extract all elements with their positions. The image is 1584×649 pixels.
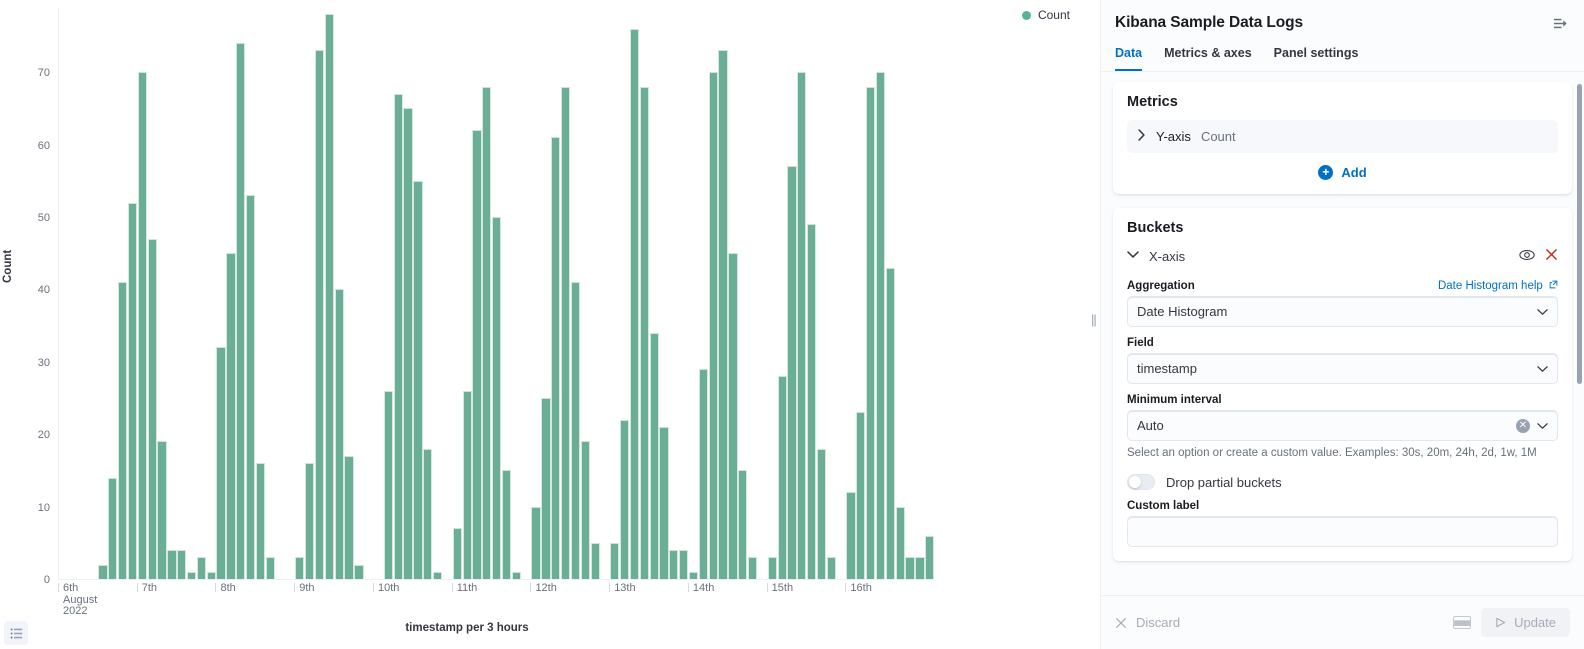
bar[interactable] [256, 463, 265, 579]
bar[interactable] [118, 282, 127, 579]
editor-tabs[interactable]: Data Metrics & axes Panel settings [1101, 36, 1584, 72]
chevron-right-icon [1137, 129, 1146, 144]
tab-panel-settings[interactable]: Panel settings [1274, 46, 1359, 71]
bar[interactable] [787, 166, 796, 579]
metric-value-label: Count [1201, 129, 1236, 144]
discard-label: Discard [1136, 615, 1180, 630]
x-axis-tick-label: 15th [767, 583, 793, 592]
add-metric-button[interactable]: + Add [1127, 165, 1558, 180]
interval-label-row: Minimum interval [1127, 394, 1558, 406]
inspect-list-icon[interactable] [4, 621, 28, 645]
x-axis-tick-label: 6th August 2022 [58, 583, 97, 592]
update-button[interactable]: Update [1481, 608, 1570, 637]
bar[interactable] [157, 441, 166, 579]
plus-circle-icon: + [1318, 165, 1333, 180]
bar[interactable] [98, 565, 107, 579]
y-axis-tick-label: 0 [16, 574, 50, 586]
bar[interactable] [591, 543, 600, 579]
bar[interactable] [856, 412, 865, 579]
bar[interactable] [177, 550, 186, 579]
bar[interactable] [295, 557, 304, 579]
bar[interactable] [335, 289, 344, 579]
keyboard-icon[interactable]: ▦▦▦ [1453, 616, 1471, 629]
metrics-card: Metrics Y-axis Count + Add [1113, 82, 1572, 194]
bar[interactable] [876, 72, 885, 579]
minimum-interval-hint: Select an option or create a custom valu… [1127, 446, 1558, 461]
x-axis-tick-label: 13th [609, 583, 635, 592]
bar[interactable] [226, 253, 235, 579]
x-axis-tick-label: 14th [688, 583, 714, 592]
bar[interactable] [709, 72, 718, 579]
add-metric-label: Add [1341, 165, 1366, 180]
bar[interactable] [472, 130, 481, 579]
bar[interactable] [886, 268, 895, 579]
bar[interactable] [354, 565, 363, 579]
bar[interactable] [925, 536, 934, 579]
buckets-heading: Buckets [1127, 220, 1558, 236]
bar[interactable] [108, 478, 117, 579]
field-label-row: Field [1127, 337, 1558, 349]
bar[interactable] [453, 528, 462, 579]
y-axis-tick-label: 50 [16, 212, 50, 224]
y-axis-tick-label: 20 [16, 429, 50, 441]
bar[interactable] [620, 420, 629, 579]
bar[interactable] [433, 572, 442, 579]
custom-label-label-row: Custom label [1127, 500, 1558, 512]
x-axis-tick-label: 10th [373, 583, 399, 592]
chart-plot-area[interactable] [58, 8, 934, 580]
bucket-row-x-axis[interactable]: X-axis [1127, 246, 1558, 270]
bar[interactable] [512, 572, 521, 579]
bar[interactable] [669, 550, 678, 579]
y-axis-tick-label: 70 [16, 67, 50, 79]
bar[interactable] [167, 550, 176, 579]
bar[interactable] [128, 203, 137, 580]
x-axis-tick-label: 9th [294, 583, 314, 592]
aggregation-label-row: Aggregation Date Histogram help [1127, 280, 1558, 292]
bar[interactable] [492, 217, 501, 579]
discard-button[interactable]: Discard [1115, 615, 1180, 630]
drop-partial-buckets-label: Drop partial buckets [1166, 475, 1282, 490]
chevron-down-icon[interactable] [1127, 250, 1139, 262]
bar[interactable] [689, 572, 698, 579]
x-axis-tick-label: 12th [530, 583, 556, 592]
aggregation-value: Date Histogram [1137, 304, 1227, 319]
chevron-down-icon [1537, 411, 1548, 441]
legend-label-count: Count [1038, 8, 1070, 22]
bar[interactable] [768, 557, 777, 579]
custom-label-input[interactable] [1127, 516, 1558, 547]
bar[interactable] [571, 282, 580, 579]
bar[interactable] [325, 14, 334, 579]
chevron-down-icon [1537, 297, 1548, 327]
bar[interactable] [551, 137, 560, 579]
bar[interactable] [640, 87, 649, 579]
y-axis-tick-label: 10 [16, 502, 50, 514]
bar[interactable] [266, 557, 275, 579]
x-axis-tick-label: 7th [137, 583, 157, 592]
minimum-interval-label: Minimum interval [1127, 394, 1222, 406]
panel-scrollbar[interactable] [1577, 84, 1582, 384]
bar[interactable] [207, 572, 216, 579]
legend-color-dot [1022, 11, 1031, 20]
minimum-interval-value: Auto [1137, 418, 1164, 433]
bar[interactable] [728, 253, 737, 579]
bar[interactable] [305, 463, 314, 579]
bar[interactable] [423, 449, 432, 579]
bar[interactable] [482, 87, 491, 579]
bar[interactable] [344, 456, 353, 579]
bar[interactable] [197, 557, 206, 579]
y-axis-title: Count [2, 250, 14, 283]
bar[interactable] [384, 391, 393, 579]
date-histogram-help-text: Date Histogram help [1438, 280, 1543, 292]
bar[interactable] [394, 94, 403, 579]
bar-series-count[interactable] [59, 7, 935, 579]
bar[interactable] [315, 50, 324, 579]
y-axis-tick-label: 40 [16, 284, 50, 296]
field-select[interactable]: timestamp [1127, 353, 1558, 384]
bar[interactable] [778, 376, 787, 579]
bar[interactable] [905, 557, 914, 579]
eye-icon[interactable] [1519, 249, 1535, 264]
bar[interactable] [610, 543, 619, 579]
bar[interactable] [846, 492, 855, 579]
bar[interactable] [502, 470, 511, 579]
x-axis-tick-label: 11th [452, 583, 478, 592]
metric-type-label: Y-axis [1156, 129, 1191, 144]
chart-legend[interactable]: Count [1022, 8, 1070, 22]
bar[interactable] [148, 239, 157, 579]
tab-metrics-and-axes[interactable]: Metrics & axes [1164, 46, 1252, 71]
editor-scroll-region[interactable]: Metrics Y-axis Count + Add Buck [1101, 72, 1584, 595]
y-axis-tick-label: 30 [16, 357, 50, 369]
panel-header: Kibana Sample Data Logs [1101, 0, 1584, 36]
x-axis-title: timestamp per 3 hours [0, 622, 934, 634]
x-axis-tick-label: 16th [845, 583, 871, 592]
bar[interactable] [807, 224, 816, 579]
panel-resize-handle[interactable]: || [1091, 312, 1096, 327]
bar[interactable] [827, 557, 836, 579]
update-label: Update [1514, 615, 1556, 630]
y-axis-tick-label: 60 [16, 140, 50, 152]
bar[interactable] [561, 87, 570, 579]
toggle-knob [1129, 476, 1141, 488]
bar[interactable] [659, 427, 668, 579]
bar[interactable] [866, 87, 875, 579]
aggregation-label: Aggregation [1127, 280, 1195, 292]
bar[interactable] [581, 441, 590, 579]
visualization-chart-area: Count Count 010203040506070 6th August 2… [0, 0, 1100, 649]
remove-bucket-icon[interactable] [1545, 248, 1558, 264]
minimum-interval-combobox[interactable]: Auto ✕ [1127, 410, 1558, 441]
bar[interactable] [915, 557, 924, 579]
collapse-right-icon[interactable] [1553, 14, 1568, 36]
footer-actions: ▦▦▦ Update [1453, 608, 1570, 637]
tab-data[interactable]: Data [1115, 46, 1142, 71]
bar[interactable] [531, 507, 540, 579]
bar[interactable] [403, 108, 412, 579]
chevron-down-icon [1537, 354, 1548, 384]
bar[interactable] [216, 347, 225, 579]
bar[interactable] [541, 398, 550, 579]
custom-label-label: Custom label [1127, 500, 1199, 512]
bar[interactable] [679, 550, 688, 579]
date-histogram-help-link[interactable]: Date Histogram help [1438, 280, 1558, 292]
visualization-editor-panel: Kibana Sample Data Logs Data Metrics & a… [1100, 0, 1584, 649]
bar[interactable] [699, 369, 708, 579]
bar[interactable] [463, 391, 472, 579]
bar[interactable] [718, 50, 727, 579]
metrics-heading: Metrics [1127, 94, 1558, 110]
page-title: Kibana Sample Data Logs [1115, 14, 1303, 32]
bar[interactable] [748, 557, 757, 579]
x-axis-tick-label: 8th [215, 583, 235, 592]
bar[interactable] [187, 572, 196, 579]
bar[interactable] [236, 43, 245, 579]
bar[interactable] [896, 507, 905, 579]
bar[interactable] [138, 72, 147, 579]
aggregation-select[interactable]: Date Histogram [1127, 296, 1558, 327]
buckets-card: Buckets X-axis [1113, 208, 1572, 561]
bar[interactable] [817, 449, 826, 579]
drop-partial-buckets-toggle[interactable] [1127, 474, 1155, 490]
drop-partial-buckets-row[interactable]: Drop partial buckets [1127, 474, 1558, 490]
bar[interactable] [650, 333, 659, 579]
bar[interactable] [797, 72, 806, 579]
bucket-axis-label: X-axis [1149, 249, 1185, 264]
bar[interactable] [630, 29, 639, 579]
bar[interactable] [738, 470, 747, 579]
bar[interactable] [413, 181, 422, 579]
field-label: Field [1127, 337, 1154, 349]
clear-icon[interactable]: ✕ [1516, 419, 1530, 433]
editor-footer: Discard ▦▦▦ Update [1101, 595, 1584, 649]
bar[interactable] [246, 195, 255, 579]
field-value: timestamp [1137, 361, 1197, 376]
metric-row-y-axis[interactable]: Y-axis Count [1127, 120, 1558, 153]
